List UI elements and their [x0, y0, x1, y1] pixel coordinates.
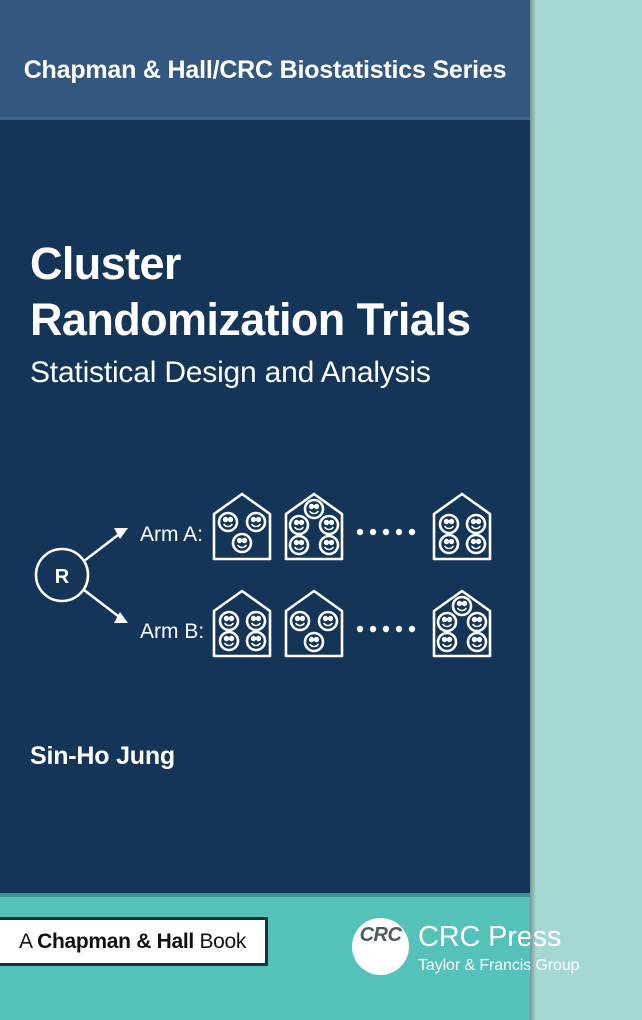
- cluster-house-b-3: [434, 591, 490, 656]
- cluster-house-a-1: [214, 494, 270, 559]
- cluster-randomization-diagram: R Arm A: Arm B:: [0, 462, 530, 677]
- diagram-svg: R Arm A: Arm B:: [0, 462, 530, 677]
- randomizer-label: R: [55, 566, 70, 588]
- cluster-ellipsis-a: [357, 529, 415, 535]
- cluster-house-b-2: [286, 591, 342, 656]
- footer-band-top-rule: [0, 893, 530, 897]
- imprint-brand: Chapman & Hall: [37, 930, 194, 953]
- imprint-box: A Chapman & Hall Book: [0, 917, 268, 966]
- spine-strip: [530, 0, 642, 1020]
- spine-shadow: [530, 0, 536, 1020]
- arm-a-label: Arm A:: [140, 523, 203, 546]
- imprint-prefix: A: [19, 930, 37, 953]
- author-name: Sin-Ho Jung: [30, 742, 175, 771]
- book-title-line-1: Cluster: [30, 236, 510, 292]
- imprint-text: A Chapman & Hall Book: [0, 930, 246, 954]
- cluster-house-a-3: [434, 494, 490, 559]
- arm-b-label: Arm B:: [140, 620, 204, 643]
- book-title-line-2: Randomization Trials: [30, 292, 510, 348]
- book-subtitle: Statistical Design and Analysis: [30, 356, 510, 390]
- front-panel: Chapman & Hall/CRC Biostatistics Series …: [0, 0, 530, 1020]
- cluster-members-a-3: [440, 515, 485, 553]
- cluster-house-a-2: [286, 494, 342, 559]
- cluster-members-b-2: [291, 612, 337, 651]
- book-title: Cluster Randomization Trials: [30, 236, 510, 349]
- cluster-members-b-3: [438, 597, 486, 651]
- cluster-members-a-2: [290, 500, 338, 554]
- footer-band: A Chapman & Hall Book CRC CRC Press Tayl…: [0, 893, 530, 1020]
- book-cover: Chapman & Hall/CRC Biostatistics Series …: [0, 0, 642, 1020]
- series-banner-divider: [0, 117, 530, 120]
- crc-press-logo: CRC CRC Press Taylor & Francis Group: [352, 907, 530, 985]
- cluster-members-a-1: [219, 513, 265, 552]
- cluster-ellipsis-b: [357, 626, 415, 632]
- publisher-name: CRC Press: [418, 921, 561, 954]
- crc-logo-monogram: CRC: [352, 907, 409, 964]
- publisher-tagline: Taylor & Francis Group: [418, 957, 579, 975]
- series-title: Chapman & Hall/CRC Biostatistics Series: [0, 56, 530, 85]
- imprint-suffix: Book: [194, 930, 246, 953]
- cluster-members-b-1: [220, 612, 265, 650]
- arrow-to-arm-a: [84, 532, 122, 561]
- arrow-to-arm-b: [84, 590, 122, 619]
- cluster-house-b-1: [214, 591, 270, 656]
- series-banner: Chapman & Hall/CRC Biostatistics Series: [0, 0, 530, 120]
